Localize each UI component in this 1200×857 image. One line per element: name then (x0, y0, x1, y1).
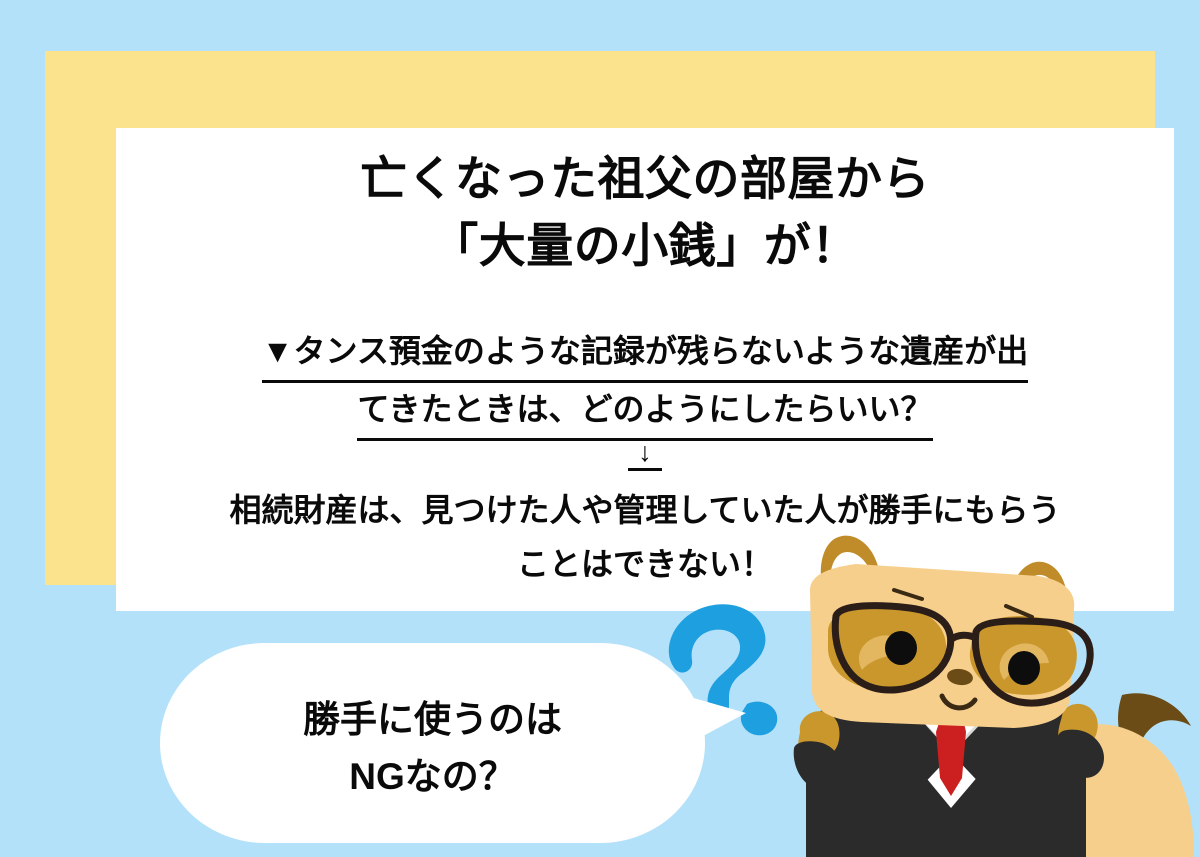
mascot-eye-right (1008, 651, 1040, 685)
question-block: ▼タンス預金のような記録が残らないような遺産が出 てきたときは、どのようにしたら… (116, 325, 1174, 441)
question-line-2: てきたときは、どのようにしたらいい？ (357, 383, 932, 441)
down-arrow-row: ↓ (116, 439, 1174, 471)
question-row-2: てきたときは、どのようにしたらいい？ (116, 383, 1174, 441)
headline-line-1: 亡くなった祖父の部屋から (116, 146, 1174, 213)
mascot-suit (794, 704, 1104, 857)
speech-bubble-line-2: NGなの？ (160, 748, 705, 805)
speech-bubble-text: 勝手に使うのは NGなの？ (160, 691, 705, 806)
speech-bubble: 勝手に使うのは NGなの？ (160, 643, 705, 843)
headline: 亡くなった祖父の部屋から 「大量の小銭」が！ (116, 146, 1174, 279)
cat-mascot-in-suit (770, 520, 1200, 857)
question-row-1: ▼タンス預金のような記録が残らないような遺産が出 (116, 325, 1174, 383)
down-arrow-icon: ↓ (628, 439, 662, 471)
question-line-1: ▼タンス預金のような記録が残らないような遺産が出 (262, 325, 1028, 383)
mascot-head (810, 564, 1090, 728)
headline-line-2: 「大量の小銭」が！ (116, 213, 1174, 280)
mascot-eye-left (885, 631, 917, 665)
poster-canvas: 亡くなった祖父の部屋から 「大量の小銭」が！ ▼タンス預金のような記録が残らない… (0, 0, 1200, 857)
card-frame: 亡くなった祖父の部屋から 「大量の小銭」が！ ▼タンス預金のような記録が残らない… (45, 51, 1155, 585)
speech-bubble-line-1: 勝手に使うのは (160, 691, 705, 748)
